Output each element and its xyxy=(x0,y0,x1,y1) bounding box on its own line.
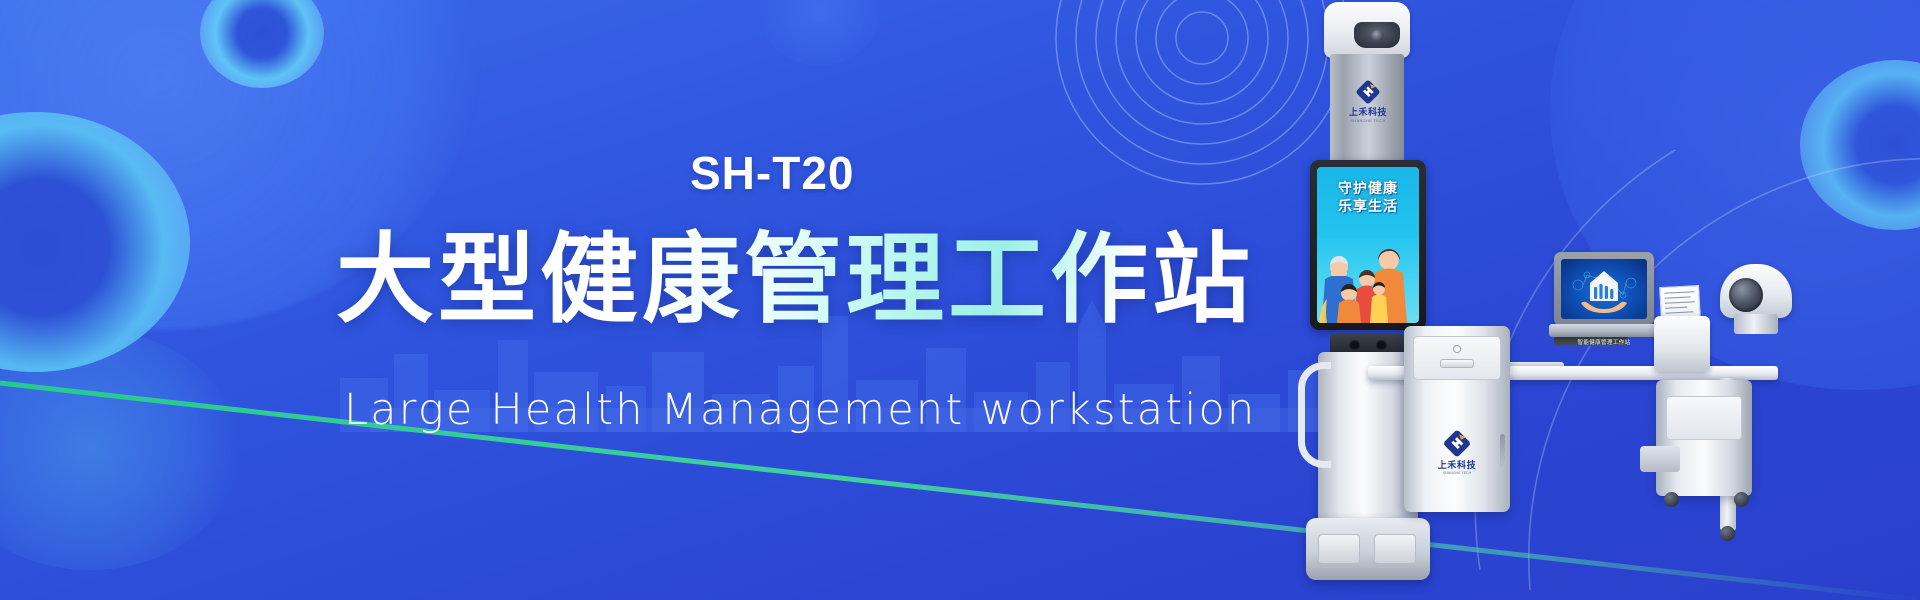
shanghe-logo-icon xyxy=(1442,430,1472,457)
model-code: SH-T20 xyxy=(690,146,854,200)
scanner-lens-icon xyxy=(1729,278,1763,312)
cabinet-side-handle xyxy=(1500,434,1505,468)
kiosk-slogan-line2: 乐享生活 xyxy=(1317,196,1419,216)
cart-wheel-left xyxy=(1664,492,1679,507)
kiosk-sensor-dot xyxy=(1371,30,1384,41)
cabinet-brand-cn: 上禾科技 xyxy=(1404,458,1510,471)
kiosk-sensor-left xyxy=(1349,340,1360,350)
scanner-module xyxy=(1720,264,1806,368)
laptop-label: 智能健康管理工作站 xyxy=(1549,338,1659,346)
kiosk-caster-left xyxy=(1310,574,1326,590)
kiosk-slogan-line1: 守护健康 xyxy=(1317,178,1419,198)
kiosk-brand-cn: 上禾科技 xyxy=(1339,105,1397,118)
desk-cabinet: 上禾科技 SHANGHE TECH xyxy=(1404,326,1510,512)
kiosk-brand-logo: 上禾科技 SHANGHE TECH xyxy=(1339,80,1397,123)
subtitle-english: Large Health Management workstation xyxy=(344,385,1257,435)
kiosk-footplate-left xyxy=(1318,534,1360,564)
product-photo: 上禾科技 SHANGHE TECH 守护健康 乐享生活 xyxy=(1250,0,1920,600)
laptop-screen[interactable] xyxy=(1561,259,1647,319)
laptop-lid xyxy=(1554,252,1654,326)
cart-wheel-right xyxy=(1734,492,1749,507)
page-title: 大型健康管理工作站 xyxy=(336,200,1254,342)
equipment-cart xyxy=(1656,380,1752,496)
cabinet-brand-logo: 上禾科技 SHANGHE TECH xyxy=(1404,430,1510,475)
laptop-base xyxy=(1549,324,1659,337)
scanner-arm xyxy=(1734,314,1778,334)
scanner-head xyxy=(1720,264,1792,318)
product-banner: SH-T20 大型健康管理工作站 Large Health Management… xyxy=(0,0,1920,600)
cabinet-drawer[interactable] xyxy=(1413,336,1501,380)
cabinet-lock-icon xyxy=(1453,345,1461,353)
workstation-desk: 上禾科技 SHANGHE TECH xyxy=(1368,300,1788,600)
cabinet-brand-en: SHANGHE TECH xyxy=(1404,471,1510,475)
receipt-printer xyxy=(1654,316,1710,372)
cabinet-drawer-handle[interactable] xyxy=(1440,359,1474,368)
hands-holding-family-home-icon xyxy=(1561,259,1647,319)
cart-tray xyxy=(1640,446,1680,472)
kiosk-handle-left xyxy=(1298,362,1331,468)
cart-panel xyxy=(1666,396,1742,440)
desk-leg-caster xyxy=(1720,526,1735,541)
shanghe-logo-icon xyxy=(1355,80,1381,104)
kiosk-brand-en: SHANGHE TECH xyxy=(1339,118,1397,123)
kiosk-height-sensor-head xyxy=(1324,2,1410,58)
